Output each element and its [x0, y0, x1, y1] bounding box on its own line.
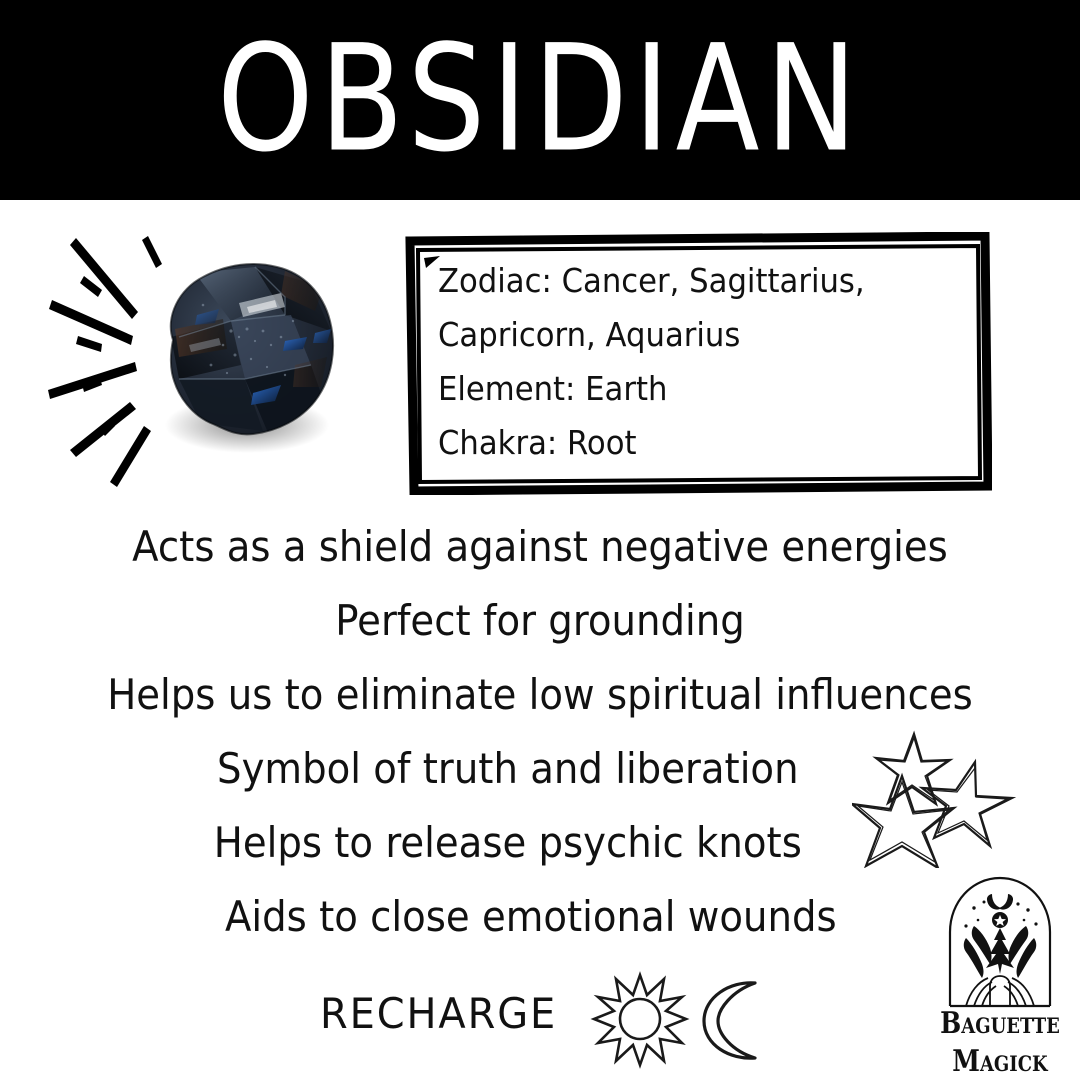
brand-name: Baguette Magick [930, 1006, 1070, 1074]
sun-icon [590, 969, 690, 1069]
obsidian-stone-photo [135, 245, 347, 457]
recharge-row: RECHARGE [300, 975, 780, 1075]
stone-illustration [40, 220, 370, 490]
attribute-lines: Zodiac: Cancer, Sagittarius, Capricorn, … [438, 254, 978, 474]
brand-name-line1: Baguette [930, 1006, 1070, 1041]
property-line: Acts as a shield against negative energi… [43, 510, 1037, 584]
property-line: Helps us to eliminate low spiritual infl… [43, 658, 1037, 732]
attribute-line-element: Element: Earth [438, 362, 940, 416]
attribute-line-chakra: Chakra: Root [438, 416, 940, 470]
brand-name-line2: Magick [930, 1044, 1070, 1079]
three-stars-icon [852, 728, 1022, 868]
brand-logo: Baguette Magick [930, 874, 1070, 1070]
page-title: OBSIDIAN [22, 0, 1059, 215]
property-line: Aids to close emotional wounds [43, 880, 1037, 954]
property-line: Perfect for grounding [43, 584, 1037, 658]
crystal-info-card: OBSIDIAN [0, 0, 1080, 1080]
attributes-box: Zodiac: Cancer, Sagittarius, Capricorn, … [400, 232, 992, 495]
crescent-moon-icon [692, 977, 778, 1063]
recharge-label: RECHARGE [320, 987, 557, 1041]
attribute-line-zodiac-1: Zodiac: Cancer, Sagittarius, [438, 254, 940, 308]
hands-arch-emblem-icon [944, 874, 1056, 1008]
attribute-line-zodiac-2: Capricorn, Aquarius [438, 308, 940, 362]
title-banner: OBSIDIAN [0, 0, 1080, 200]
